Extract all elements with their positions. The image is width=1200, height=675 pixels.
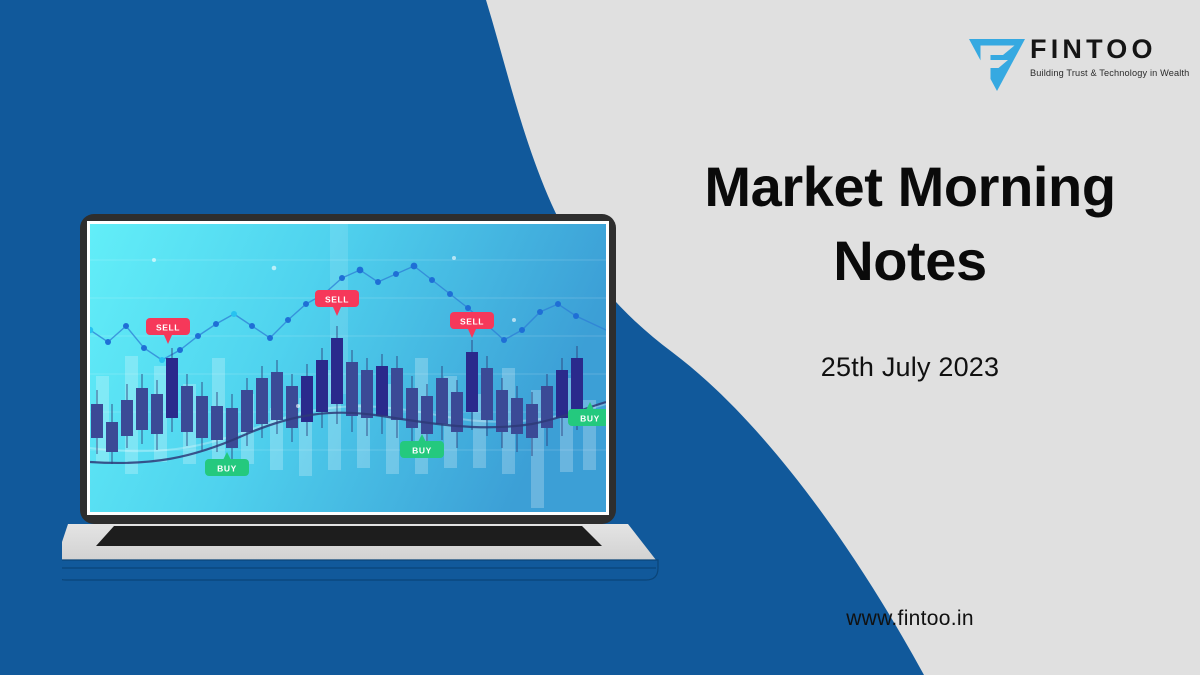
website-url[interactable]: www.fintoo.in	[640, 607, 1180, 631]
issue-date: 25th July 2023	[640, 352, 1180, 383]
banner-canvas: FINTOO Building Trust & Technology in We…	[0, 0, 1200, 675]
sell-label-text: SELL	[460, 317, 484, 327]
fintoo-triangle-f-mark-icon	[968, 32, 1026, 92]
fintoo-logo[interactable]: FINTOO Building Trust & Technology in We…	[968, 30, 1178, 98]
sell-label-text: SELL	[156, 323, 180, 333]
buy-label-text: BUY	[412, 446, 432, 456]
logo-name-text: FINTOO	[1030, 34, 1178, 64]
logo-tagline-text: Building Trust & Technology in Wealth	[1030, 67, 1178, 80]
buy-label-text: BUY	[217, 464, 237, 474]
page-title: Market Morning Notes	[640, 150, 1180, 298]
laptop-front-lip	[62, 560, 658, 580]
sell-label-text: SELL	[325, 295, 349, 305]
laptop-screen[interactable]: SELL SELL SELL BUY BUY	[87, 224, 612, 512]
laptop-keyboard-well	[96, 526, 602, 546]
fintoo-wordmark: FINTOO Building Trust & Technology in We…	[1030, 34, 1178, 80]
buy-label-text: BUY	[580, 414, 600, 424]
laptop-illustration: SELL SELL SELL BUY BUY	[62, 208, 662, 583]
